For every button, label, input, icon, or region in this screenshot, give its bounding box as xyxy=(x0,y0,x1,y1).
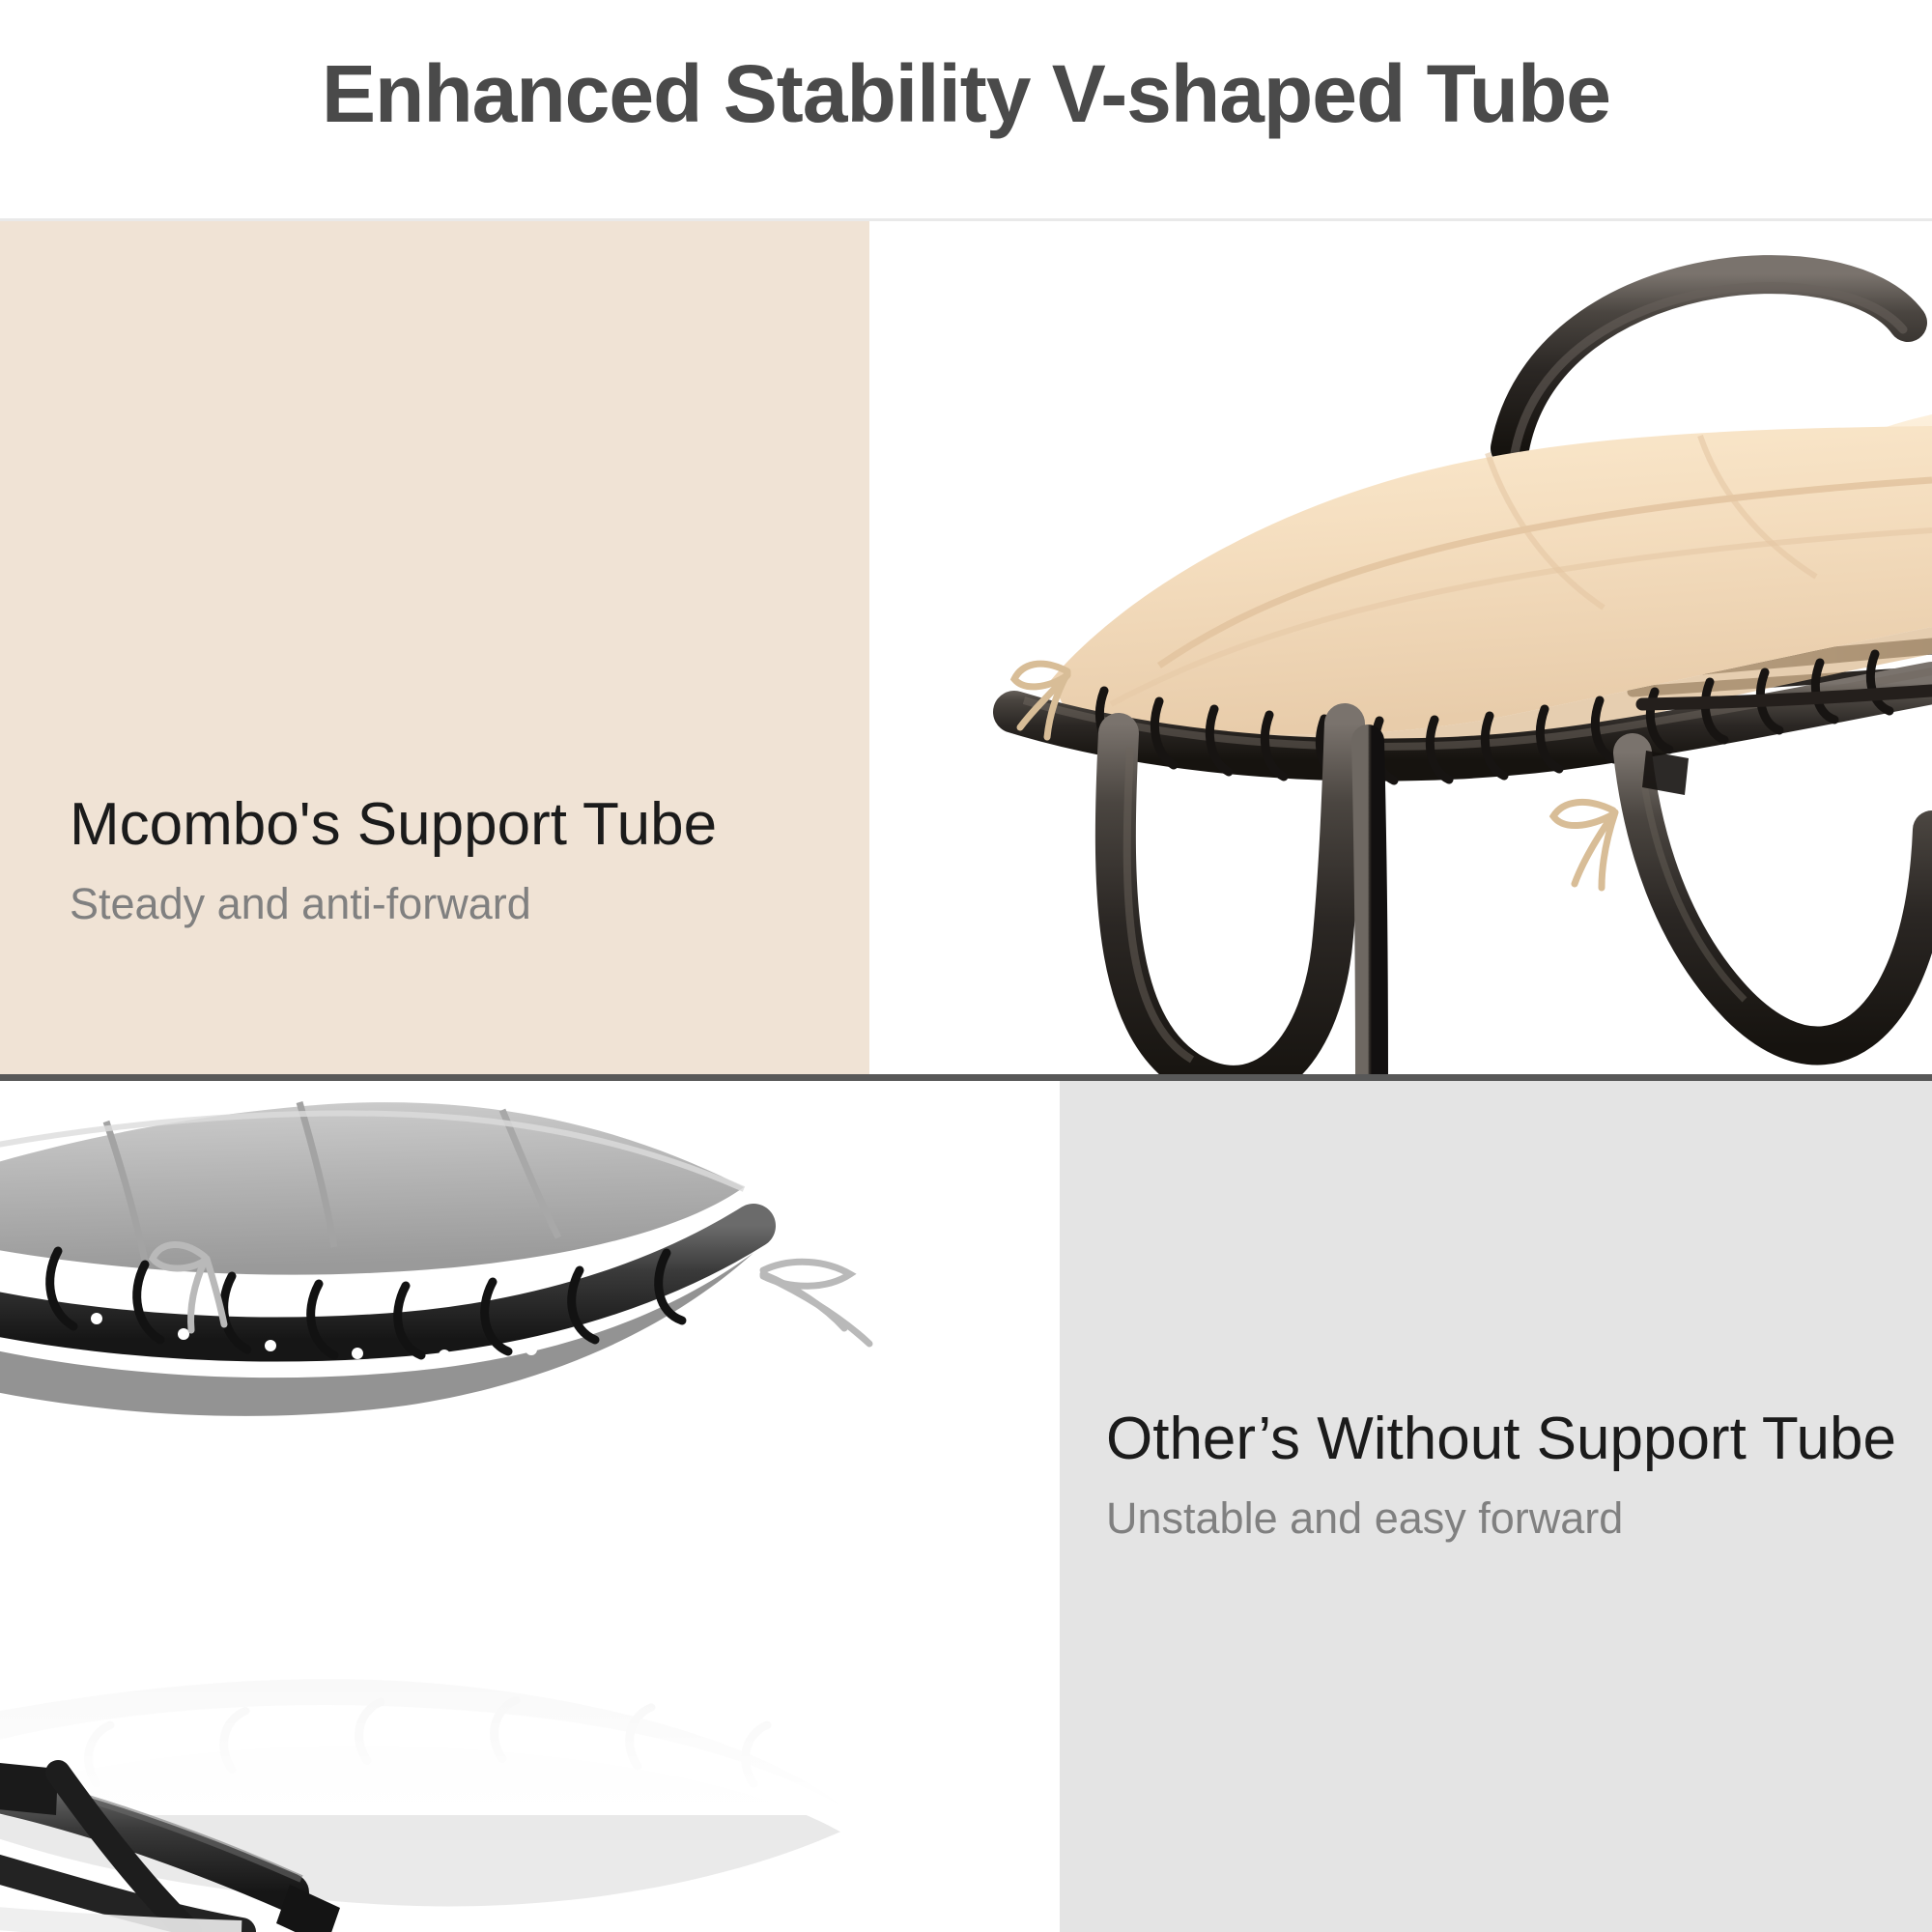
good-caption-block: Mcombo's Support Tube Steady and anti-fo… xyxy=(70,793,717,926)
chaise-lounge-without-support-tube-photo xyxy=(0,1081,1060,1932)
good-headline: Mcombo's Support Tube xyxy=(70,793,717,856)
good-photo-panel xyxy=(869,221,1932,1074)
good-subtitle: Steady and anti-forward xyxy=(70,881,717,926)
bad-headline: Other’s Without Support Tube xyxy=(1106,1407,1896,1470)
good-caption-panel: Mcombo's Support Tube Steady and anti-fo… xyxy=(0,221,869,1074)
bad-caption-block: Other’s Without Support Tube Unstable an… xyxy=(1106,1407,1896,1541)
header-bar: Enhanced Stability V-shaped Tube xyxy=(0,0,1932,220)
bad-photo-panel xyxy=(0,1081,1060,1932)
page-title: Enhanced Stability V-shaped Tube xyxy=(0,50,1932,138)
bad-caption-panel: Other’s Without Support Tube Unstable an… xyxy=(1060,1081,1932,1932)
bad-subtitle: Unstable and easy forward xyxy=(1106,1495,1896,1541)
infographic-root: Enhanced Stability V-shaped Tube Mcombo'… xyxy=(0,0,1932,1932)
chaise-lounge-with-support-tube-photo xyxy=(869,221,1932,1074)
section-divider xyxy=(0,1074,1932,1081)
